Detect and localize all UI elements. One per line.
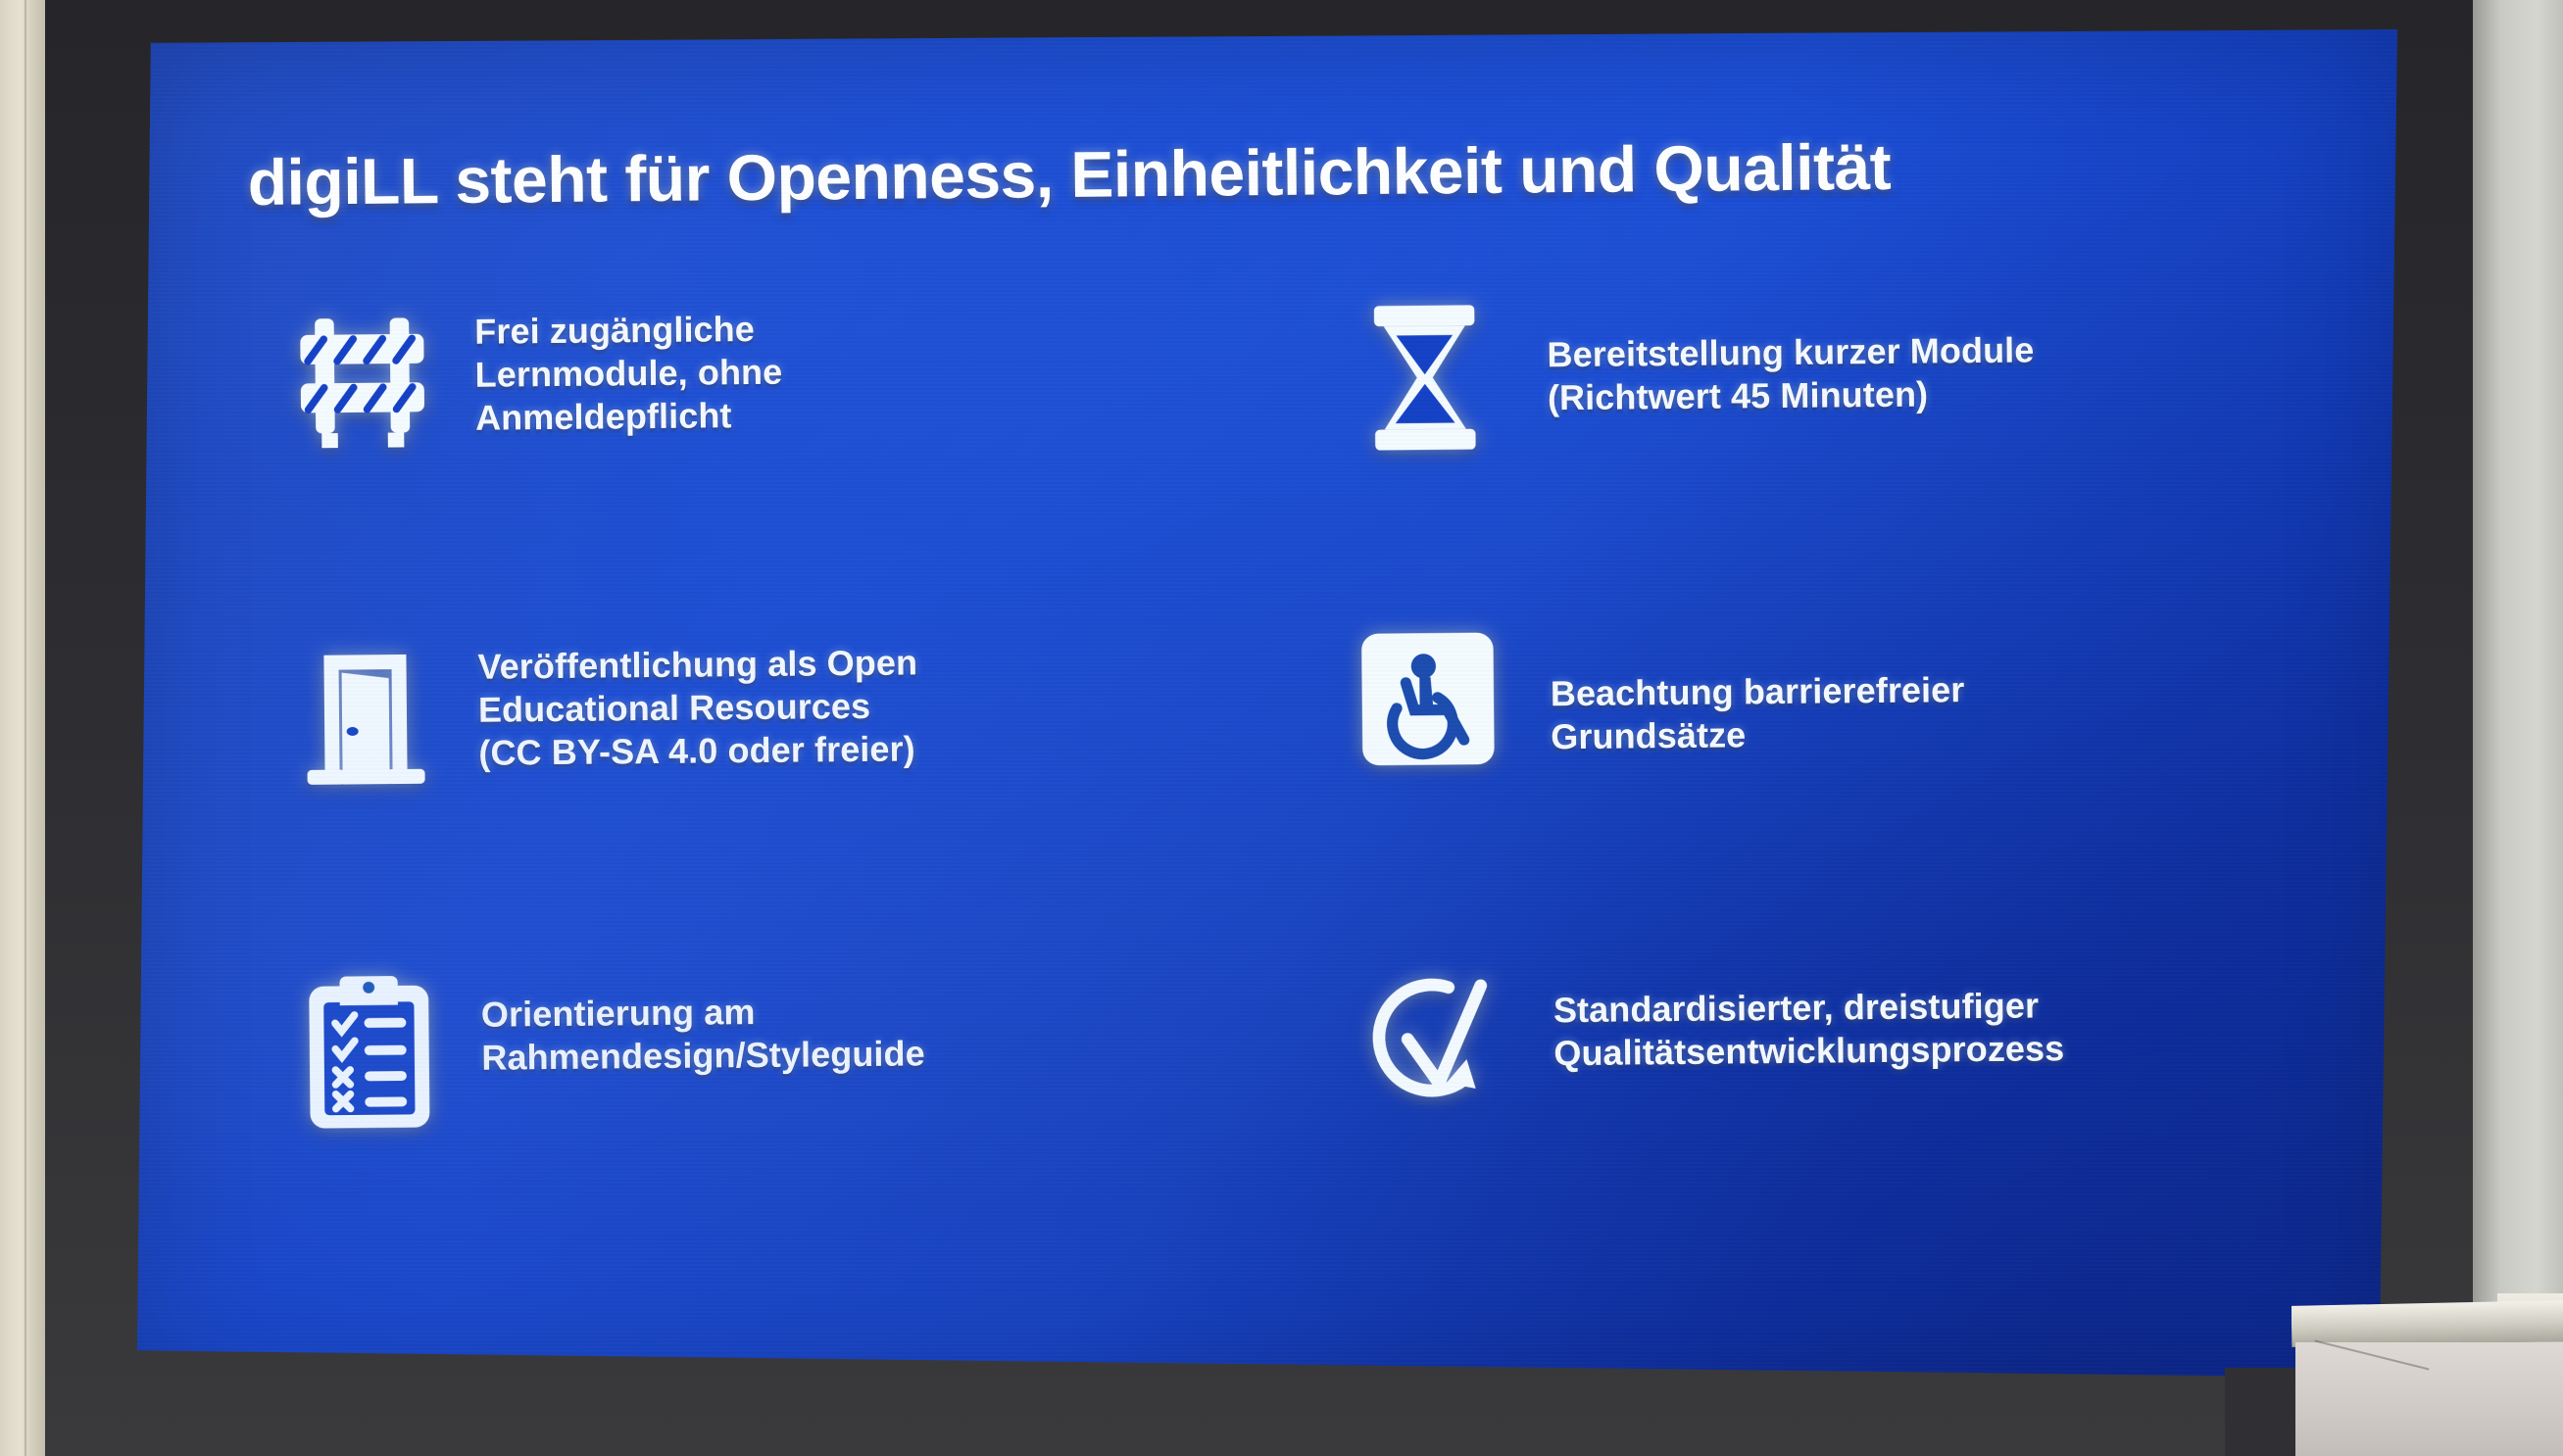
feature-item-frei-zugaengliche-lernmodule: Frei zugängliche Lernmodule, ohne Anmeld…: [249, 279, 1275, 620]
slide-content: digiLL steht für Openness, Einheitlichke…: [130, 19, 2403, 1402]
feature-item-barrierefreiheit: Beachtung barrierefreier Grundsätze: [1305, 601, 2331, 942]
feature-text-line: Beachtung barrierefreier: [1551, 665, 2329, 716]
flipchart-paper-sheet: [2295, 1342, 2563, 1456]
feature-item-text: Bereitstellung kurzer Module (Richtwert …: [1547, 287, 2326, 419]
feature-text-line: Veröffentlichung als Open: [477, 638, 1275, 689]
feature-text-line: Grundsätze: [1551, 708, 2329, 759]
clipboard-checklist-icon: [255, 967, 482, 1135]
feature-text-line: Standardisierter, dreistufiger: [1553, 981, 2332, 1032]
projected-slide: digiLL steht für Openness, Einheitlichke…: [137, 29, 2397, 1391]
feature-item-text: Beachtung barrierefreier Grundsätze: [1550, 618, 2329, 758]
feature-text-line: Qualitätsentwicklungsprozess: [1553, 1024, 2332, 1075]
feature-text-line: (Richtwert 45 Minuten): [1548, 369, 2326, 420]
flipchart-rail: [2292, 1300, 2563, 1347]
room-scene: digiLL steht für Openness, Einheitlichke…: [0, 0, 2563, 1456]
wall-left: [0, 0, 45, 1456]
feature-text-line: Bereitstellung kurzer Module: [1547, 326, 2325, 377]
feature-text-line: Anmeldepflicht: [475, 389, 1273, 440]
wall-right: [2473, 0, 2563, 1456]
feature-text-line: Lernmodule, ohne: [474, 346, 1272, 397]
feature-text-line: Frei zugängliche: [474, 303, 1272, 354]
feature-item-bereitstellung-kurzer-module: Bereitstellung kurzer Module (Richtwert …: [1302, 269, 2328, 610]
page-title: digiLL steht für Openness, Einheitlichke…: [247, 125, 2257, 219]
feature-item-text: Veröffentlichung als Open Educational Re…: [477, 628, 1276, 775]
flipchart-whiteboard: [2292, 1293, 2563, 1456]
slide-background: digiLL steht für Openness, Einheitlichke…: [137, 29, 2397, 1391]
feature-item-text: Orientierung am Rahmendesign/Styleguide: [480, 960, 1279, 1080]
road-barrier-icon: [249, 305, 475, 458]
feature-text-line: (CC BY-SA 4.0 oder freier): [478, 724, 1276, 775]
feature-item-qualitaetsprozess: Standardisierter, dreistufiger Qualitäts…: [1307, 932, 2334, 1273]
open-door-icon: [252, 636, 479, 794]
feature-item-text: Frei zugängliche Lernmodule, ohne Anmeld…: [474, 297, 1273, 440]
feature-item-veroeffentlichung-oer: Veröffentlichung als Open Educational Re…: [252, 610, 1278, 951]
wall-left-seam: [25, 0, 26, 1456]
hourglass-icon: [1302, 294, 1549, 457]
feature-text-line: Orientierung am: [481, 986, 1279, 1037]
feature-text-line: Rahmendesign/Styleguide: [481, 1028, 1279, 1079]
feature-grid: Frei zugängliche Lernmodule, ohne Anmeld…: [249, 269, 2335, 1284]
wheelchair-accessibility-icon: [1305, 626, 1551, 769]
feature-text-line: Educational Resources: [478, 681, 1276, 732]
feature-item-text: Standardisierter, dreistufiger Qualitäts…: [1553, 949, 2332, 1074]
circular-arrow-check-icon: [1307, 957, 1553, 1110]
feature-item-rahmendesign-styleguide: Orientierung am Rahmendesign/Styleguide: [255, 943, 1281, 1284]
